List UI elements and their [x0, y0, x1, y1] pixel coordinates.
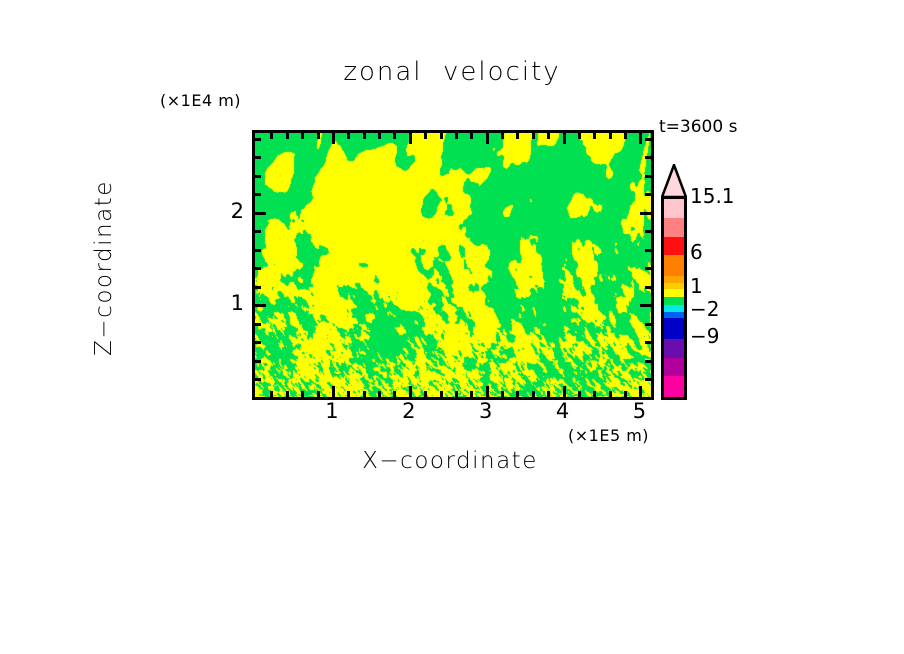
- x-tick-label: 1: [317, 399, 347, 423]
- y-minor-tick: [255, 193, 261, 196]
- x-minor-tick: [378, 391, 381, 397]
- colorbar-band: [664, 289, 684, 297]
- colorbar-band: [664, 276, 684, 283]
- x-minor-tick: [578, 391, 581, 397]
- x-minor-tick: [624, 391, 627, 397]
- y-major-tick-right: [640, 304, 651, 307]
- colorbar-bands: [661, 196, 687, 400]
- colorbar-band: [664, 297, 684, 305]
- x-minor-tick-top: [270, 133, 273, 139]
- x-minor-tick: [440, 391, 443, 397]
- y-minor-tick: [255, 360, 261, 363]
- x-unit-label: (×1E5 m): [568, 426, 649, 445]
- x-minor-tick-top: [317, 133, 320, 139]
- y-unit-label: (×1E4 m): [160, 91, 241, 110]
- x-minor-tick: [470, 391, 473, 397]
- y-minor-tick-right: [645, 156, 651, 159]
- x-minor-tick-top: [609, 133, 612, 139]
- x-minor-tick-top: [378, 133, 381, 139]
- colorbar-band: [664, 305, 684, 312]
- colorbar-band: [664, 358, 684, 377]
- y-major-tick: [255, 212, 266, 215]
- y-minor-tick-right: [645, 249, 651, 252]
- colorbar-band: [664, 237, 684, 256]
- heatmap-field: [255, 133, 651, 397]
- x-minor-tick-top: [624, 133, 627, 139]
- y-minor-tick: [255, 230, 261, 233]
- x-minor-tick-top: [347, 133, 350, 139]
- y-minor-tick: [255, 341, 261, 344]
- y-minor-tick-right: [645, 378, 651, 381]
- x-minor-tick-top: [532, 133, 535, 139]
- time-annotation: t=3600 s: [659, 117, 737, 137]
- x-minor-tick: [532, 391, 535, 397]
- y-minor-tick: [255, 286, 261, 289]
- x-tick-label: 5: [624, 399, 654, 423]
- y-minor-tick-right: [645, 286, 651, 289]
- y-tick-label: 2: [214, 199, 244, 223]
- x-tick-label: 3: [471, 399, 501, 423]
- x-minor-tick: [609, 391, 612, 397]
- x-minor-tick-top: [593, 133, 596, 139]
- x-minor-tick-top: [516, 133, 519, 139]
- figure-canvas: zonal velocity (×1E4 m) (×1E5 m) X−coord…: [0, 0, 904, 654]
- x-minor-tick-top: [455, 133, 458, 139]
- colorbar-band: [664, 283, 684, 290]
- y-minor-tick: [255, 138, 261, 141]
- y-minor-tick-right: [645, 267, 651, 270]
- x-major-tick-top: [409, 133, 412, 144]
- y-minor-tick-right: [645, 138, 651, 141]
- colorbar-band: [664, 218, 684, 237]
- x-major-tick: [563, 386, 566, 397]
- x-major-tick: [639, 386, 642, 397]
- y-minor-tick: [255, 378, 261, 381]
- colorbar-band: [664, 318, 684, 338]
- x-minor-tick: [593, 391, 596, 397]
- y-minor-tick: [255, 175, 261, 178]
- x-minor-tick: [317, 391, 320, 397]
- x-major-tick: [332, 386, 335, 397]
- colorbar-tick-label: 1: [690, 274, 703, 298]
- x-major-tick-top: [332, 133, 335, 144]
- colorbar-band: [664, 255, 684, 275]
- page-title: zonal velocity: [0, 57, 904, 87]
- x-major-tick: [486, 386, 489, 397]
- y-minor-tick-right: [645, 193, 651, 196]
- x-minor-tick: [301, 391, 304, 397]
- x-minor-tick-top: [501, 133, 504, 139]
- colorbar-tick-label: −2: [690, 297, 719, 321]
- colorbar-tick-label: 6: [690, 240, 703, 264]
- x-minor-tick: [547, 391, 550, 397]
- x-minor-tick: [363, 391, 366, 397]
- x-tick-label: 4: [548, 399, 578, 423]
- x-minor-tick: [516, 391, 519, 397]
- x-minor-tick-top: [424, 133, 427, 139]
- y-minor-tick-right: [645, 175, 651, 178]
- y-minor-tick: [255, 267, 261, 270]
- colorbar-band: [664, 312, 684, 319]
- colorbar-tick-label: −9: [690, 324, 719, 348]
- x-minor-tick-top: [363, 133, 366, 139]
- y-minor-tick-right: [645, 341, 651, 344]
- x-axis-title: X−coordinate: [252, 448, 648, 474]
- y-minor-tick: [255, 156, 261, 159]
- y-minor-tick: [255, 323, 261, 326]
- x-minor-tick-top: [470, 133, 473, 139]
- y-minor-tick: [255, 249, 261, 252]
- x-major-tick: [409, 386, 412, 397]
- x-minor-tick: [347, 391, 350, 397]
- y-axis-title: Z−coordinate: [91, 98, 117, 438]
- colorbar-band: [664, 199, 684, 218]
- x-major-tick-top: [639, 133, 642, 144]
- colorbar-tick-label: 15.1: [690, 184, 735, 208]
- x-minor-tick: [270, 391, 273, 397]
- x-minor-tick: [393, 391, 396, 397]
- colorbar-arrow-outline-icon: [661, 164, 687, 198]
- x-minor-tick: [501, 391, 504, 397]
- y-minor-tick-right: [645, 360, 651, 363]
- plot-area: [252, 130, 654, 400]
- colorbar-band: [664, 339, 684, 358]
- colorbar-band: [664, 376, 684, 396]
- y-major-tick-right: [640, 212, 651, 215]
- x-minor-tick-top: [301, 133, 304, 139]
- x-minor-tick-top: [578, 133, 581, 139]
- x-major-tick-top: [563, 133, 566, 144]
- x-minor-tick: [455, 391, 458, 397]
- x-major-tick-top: [486, 133, 489, 144]
- x-minor-tick: [286, 391, 289, 397]
- x-minor-tick-top: [547, 133, 550, 139]
- x-minor-tick-top: [393, 133, 396, 139]
- y-minor-tick-right: [645, 230, 651, 233]
- y-tick-label: 1: [214, 291, 244, 315]
- x-minor-tick-top: [286, 133, 289, 139]
- x-minor-tick: [424, 391, 427, 397]
- x-minor-tick-top: [440, 133, 443, 139]
- x-tick-label: 2: [394, 399, 424, 423]
- y-major-tick: [255, 304, 266, 307]
- y-minor-tick-right: [645, 323, 651, 326]
